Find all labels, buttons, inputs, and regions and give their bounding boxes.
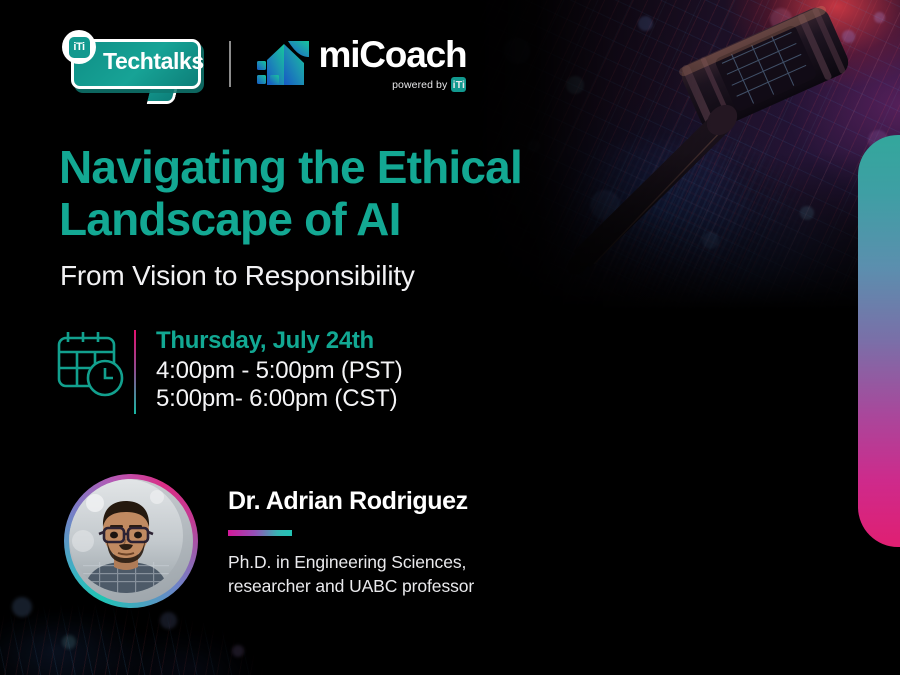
speaker-avatar bbox=[69, 479, 193, 603]
speaker-bio-line-1: Ph.D. in Engineering Sciences, bbox=[228, 550, 474, 574]
datetime-divider bbox=[134, 330, 136, 414]
event-time-cst: 5:00pm- 6:00pm (CST) bbox=[156, 385, 403, 413]
event-day: Thursday, July 24th bbox=[156, 326, 403, 356]
logo-divider bbox=[229, 41, 231, 87]
bokeh-dot bbox=[160, 612, 177, 629]
techtalks-logo[interactable]: Techtalks iTi bbox=[57, 27, 207, 101]
webinar-poster: Techtalks iTi bbox=[0, 0, 900, 675]
micoach-wordmark: miCoach bbox=[319, 36, 467, 74]
header-logos: Techtalks iTi bbox=[57, 27, 466, 101]
speaker-bio: Ph.D. in Engineering Sciences, researche… bbox=[228, 550, 474, 598]
micoach-house-icon bbox=[257, 41, 309, 87]
speaker-accent-bar bbox=[228, 530, 292, 536]
speaker-name: Dr. Adrian Rodriguez bbox=[228, 486, 474, 516]
right-gradient-strip bbox=[858, 135, 900, 547]
bokeh-dot bbox=[62, 635, 76, 649]
avatar-gradient-ring bbox=[64, 474, 198, 608]
title-line-1: Navigating the Ethical bbox=[59, 141, 522, 193]
iti-badge-label: iTi bbox=[69, 37, 90, 58]
speaker-portrait bbox=[69, 479, 183, 593]
event-datetime-block: Thursday, July 24th 4:00pm - 5:00pm (PST… bbox=[56, 326, 403, 414]
gavel-circuit-hero-image bbox=[470, 0, 900, 310]
page-title: Navigating the Ethical Landscape of AI bbox=[59, 141, 522, 245]
powered-by-label: powered by bbox=[392, 79, 447, 91]
micoach-logo[interactable]: miCoach powered by iTi bbox=[257, 36, 467, 92]
hero-fade-overlay bbox=[470, 0, 900, 310]
powered-by-block: powered by iTi bbox=[319, 77, 467, 92]
iti-circle-badge: iTi bbox=[62, 30, 96, 64]
speaker-block: Dr. Adrian Rodriguez Ph.D. in Engineerin… bbox=[64, 474, 474, 608]
techtalks-wordmark: Techtalks bbox=[103, 47, 204, 75]
event-time-pst: 4:00pm - 5:00pm (PST) bbox=[156, 357, 403, 385]
bokeh-dot bbox=[12, 597, 32, 617]
calendar-clock-icon bbox=[56, 328, 126, 400]
title-line-2: Landscape of AI bbox=[59, 193, 522, 245]
page-subtitle: From Vision to Responsibility bbox=[60, 260, 415, 292]
speaker-bio-line-2: researcher and UABC professor bbox=[228, 574, 474, 598]
bokeh-dot bbox=[232, 645, 244, 657]
iti-small-badge: iTi bbox=[451, 77, 466, 92]
